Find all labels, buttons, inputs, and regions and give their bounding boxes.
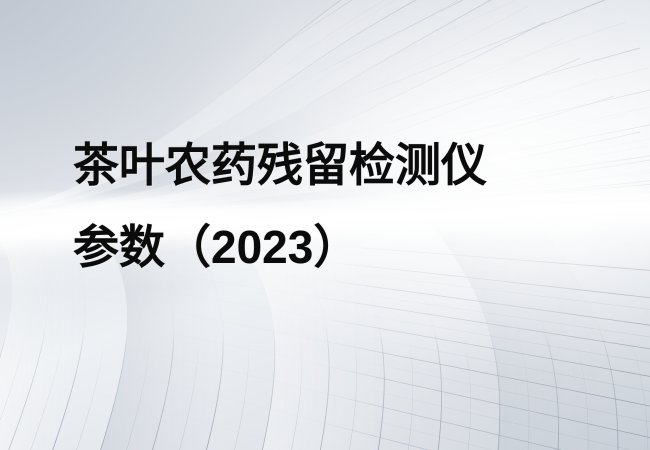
slide-title-block: 茶叶农药残留检测仪 参数（2023） — [73, 124, 593, 288]
title-slide: 茶叶农药残留检测仪 参数（2023） — [0, 0, 650, 450]
slide-title-line-2: 参数（2023） — [73, 206, 593, 288]
slide-title-line-1: 茶叶农药残留检测仪 — [73, 124, 593, 206]
